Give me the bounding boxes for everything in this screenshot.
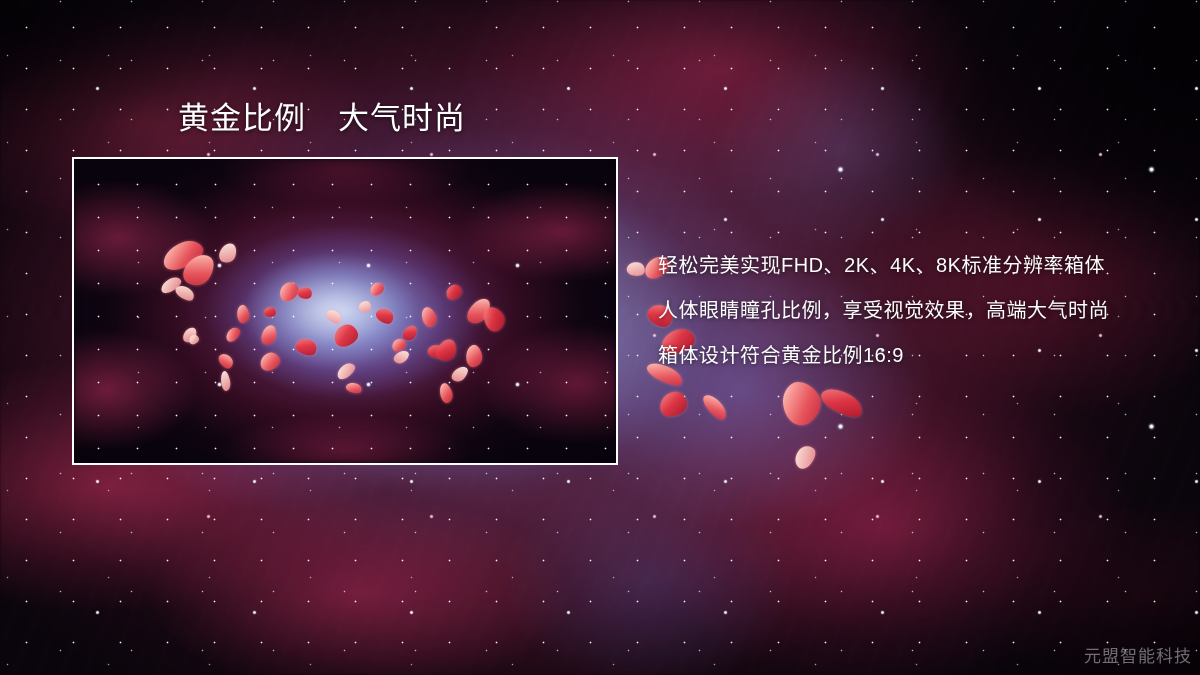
body-line: 箱体设计符合黄金比例16:9 <box>658 346 1178 366</box>
petal <box>700 391 730 423</box>
slide-canvas: 黄金比例 大气时尚 轻松完美实现FHD、2K、4K、8K标准分辨率箱体 人体眼睛… <box>0 0 1200 675</box>
petal <box>774 375 829 431</box>
body-line: 人体眼睛瞳孔比例，享受视觉效果，高端大气时尚 <box>658 301 1178 321</box>
watermark-label: 元盟智能科技 <box>1084 642 1192 667</box>
image-frame-16-9 <box>72 157 618 465</box>
body-text-block: 轻松完美实现FHD、2K、4K、8K标准分辨率箱体 人体眼睛瞳孔比例，享受视觉效… <box>658 256 1178 366</box>
petal <box>658 390 688 418</box>
page-title: 黄金比例 大气时尚 <box>178 102 466 135</box>
petal <box>790 442 819 472</box>
panel-starfield <box>74 159 616 463</box>
body-line: 轻松完美实现FHD、2K、4K、8K标准分辨率箱体 <box>658 256 1178 276</box>
petal <box>625 260 646 278</box>
petal <box>818 382 867 422</box>
